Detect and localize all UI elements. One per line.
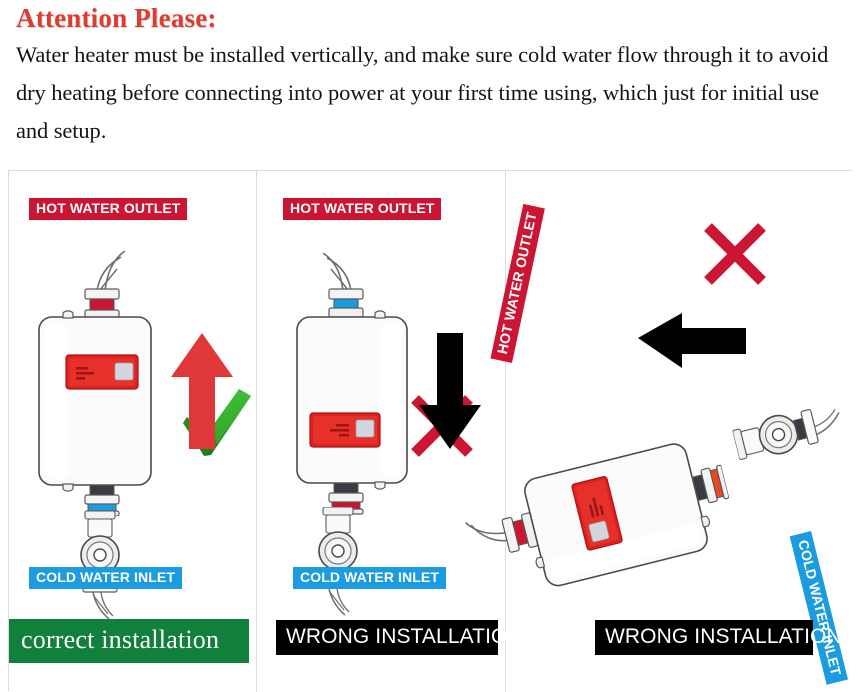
water-heater-unit-vertical bbox=[33, 251, 163, 516]
water-heater-unit-mirrored bbox=[287, 253, 413, 515]
panel-wrong-inverted: HOT WATER OUTLET bbox=[257, 171, 506, 692]
cross-mark-icon bbox=[702, 221, 768, 292]
inlet-valve-assembly bbox=[726, 381, 851, 481]
attention-notice: Attention Please: Water heater must be i… bbox=[0, 0, 860, 170]
notice-title: Attention Please: bbox=[16, 2, 846, 34]
arrow-left-icon bbox=[636, 311, 748, 378]
verdict-banner-wrong: WRONG INSTALLATION bbox=[595, 620, 813, 655]
verdict-banner-correct: correct installation bbox=[9, 619, 249, 663]
installation-panels: HOT WATER OUTLET bbox=[8, 170, 852, 691]
cold-water-inlet-label: COLD WATER INLET bbox=[790, 531, 848, 685]
panel-wrong-horizontal: HOT WATER OUTLET COLD WATER INLET bbox=[506, 171, 853, 692]
hot-water-outlet-label: HOT WATER OUTLET bbox=[283, 198, 441, 220]
hot-water-outlet-label: HOT WATER OUTLET bbox=[29, 198, 187, 220]
cold-water-inlet-label: COLD WATER INLET bbox=[29, 567, 182, 589]
notice-body: Water heater must be installed verticall… bbox=[16, 36, 846, 150]
verdict-banner-wrong: WRONG INSTALLATION bbox=[276, 620, 498, 655]
cold-water-inlet-label: COLD WATER INLET bbox=[293, 567, 446, 589]
arrow-up-icon bbox=[169, 331, 235, 456]
arrow-down-icon bbox=[417, 331, 483, 456]
panel-correct-installation: HOT WATER OUTLET bbox=[9, 171, 257, 692]
inlet-valve-assembly bbox=[63, 511, 139, 621]
inlet-valve-assembly bbox=[301, 507, 377, 617]
